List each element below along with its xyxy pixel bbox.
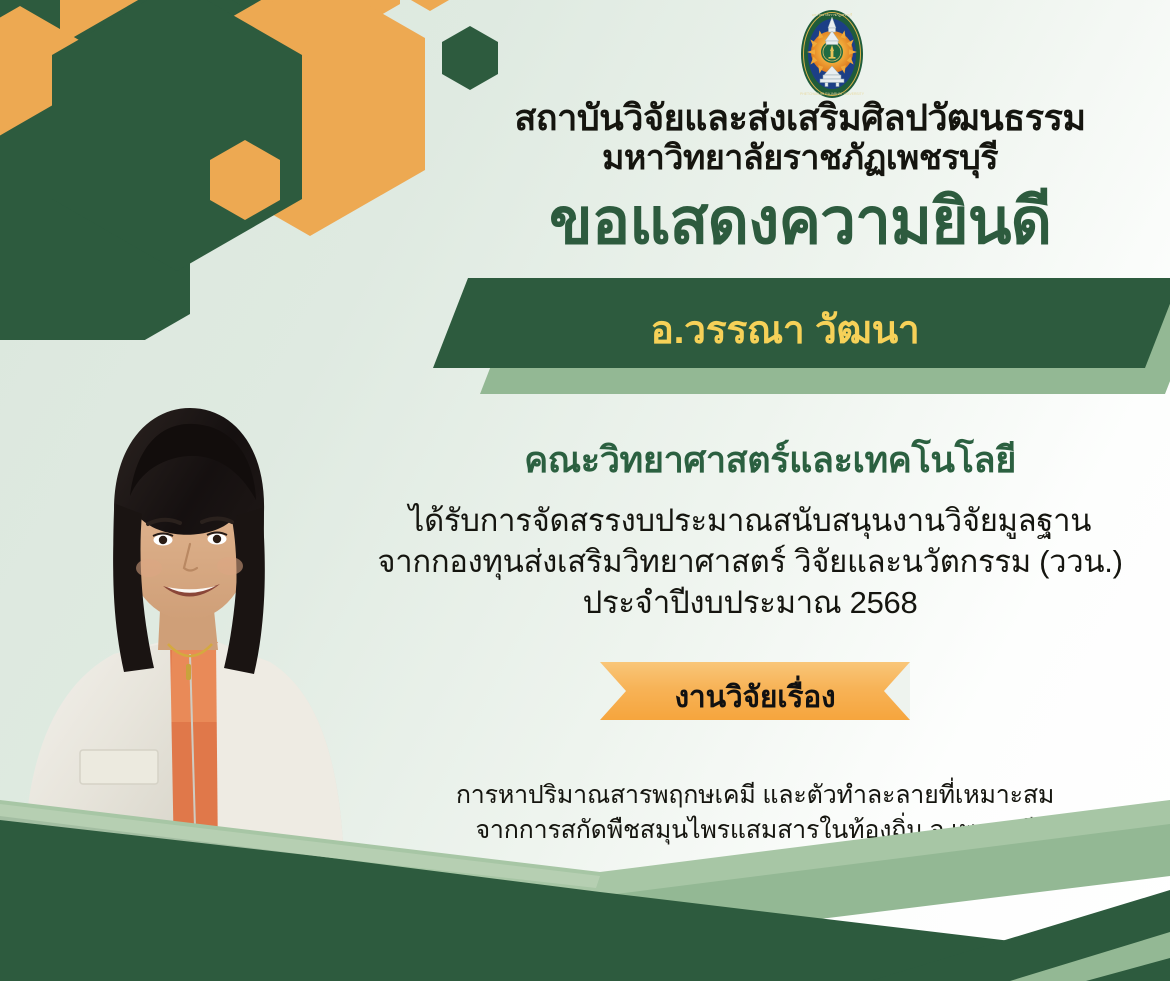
university-seal-icon: มหาวิทยาลัยราชภัฏเพชรบุรี PHETCHABURI RA… <box>789 8 875 100</box>
svg-text:PHETCHABURI RAJABHAT UNIVERSIT: PHETCHABURI RAJABHAT UNIVERSITY <box>800 92 865 96</box>
university-name: มหาวิทยาลัยราชภัฏเพชรบุรี <box>430 138 1170 179</box>
page-title-congratulations: ขอแสดงความยินดี <box>430 188 1170 255</box>
organization-heading: สถาบันวิจัยและส่งเสริมศิลปวัฒนธรรม มหาวิ… <box>430 98 1170 179</box>
honoree-faculty: คณะวิทยาศาสตร์และเทคโนโลยี <box>370 431 1170 488</box>
award-line-1: ได้รับการจัดสรรงบประมาณสนับสนุนงานวิจัยม… <box>330 500 1170 541</box>
award-line-2: จากกองทุนส่งเสริมวิทยาศาสตร์ วิจัยและนวั… <box>330 541 1170 582</box>
award-description: ได้รับการจัดสรรงบประมาณสนับสนุนงานวิจัยม… <box>330 500 1170 624</box>
poster-canvas: มหาวิทยาลัยราชภัฏเพชรบุรี PHETCHABURI RA… <box>0 0 1170 981</box>
award-line-3: ประจำปีงบประมาณ 2568 <box>330 582 1170 623</box>
honoree-portrait-photo <box>18 392 348 862</box>
research-ribbon-label: งานวิจัยเรื่อง <box>600 674 910 721</box>
research-title: การหาปริมาณสารพฤกษเคมี และตัวทำละลายที่เ… <box>340 778 1170 848</box>
honoree-name: อ.วรรณา วัฒนา <box>420 299 1150 361</box>
research-title-line-2: จากการสกัดพืชสมุนไพรแสมสารในท้องถิ่น จ.เ… <box>340 813 1170 848</box>
institute-name: สถาบันวิจัยและส่งเสริมศิลปวัฒนธรรม <box>430 98 1170 138</box>
research-title-line-1: การหาปริมาณสารพฤกษเคมี และตัวทำละลายที่เ… <box>340 778 1170 813</box>
